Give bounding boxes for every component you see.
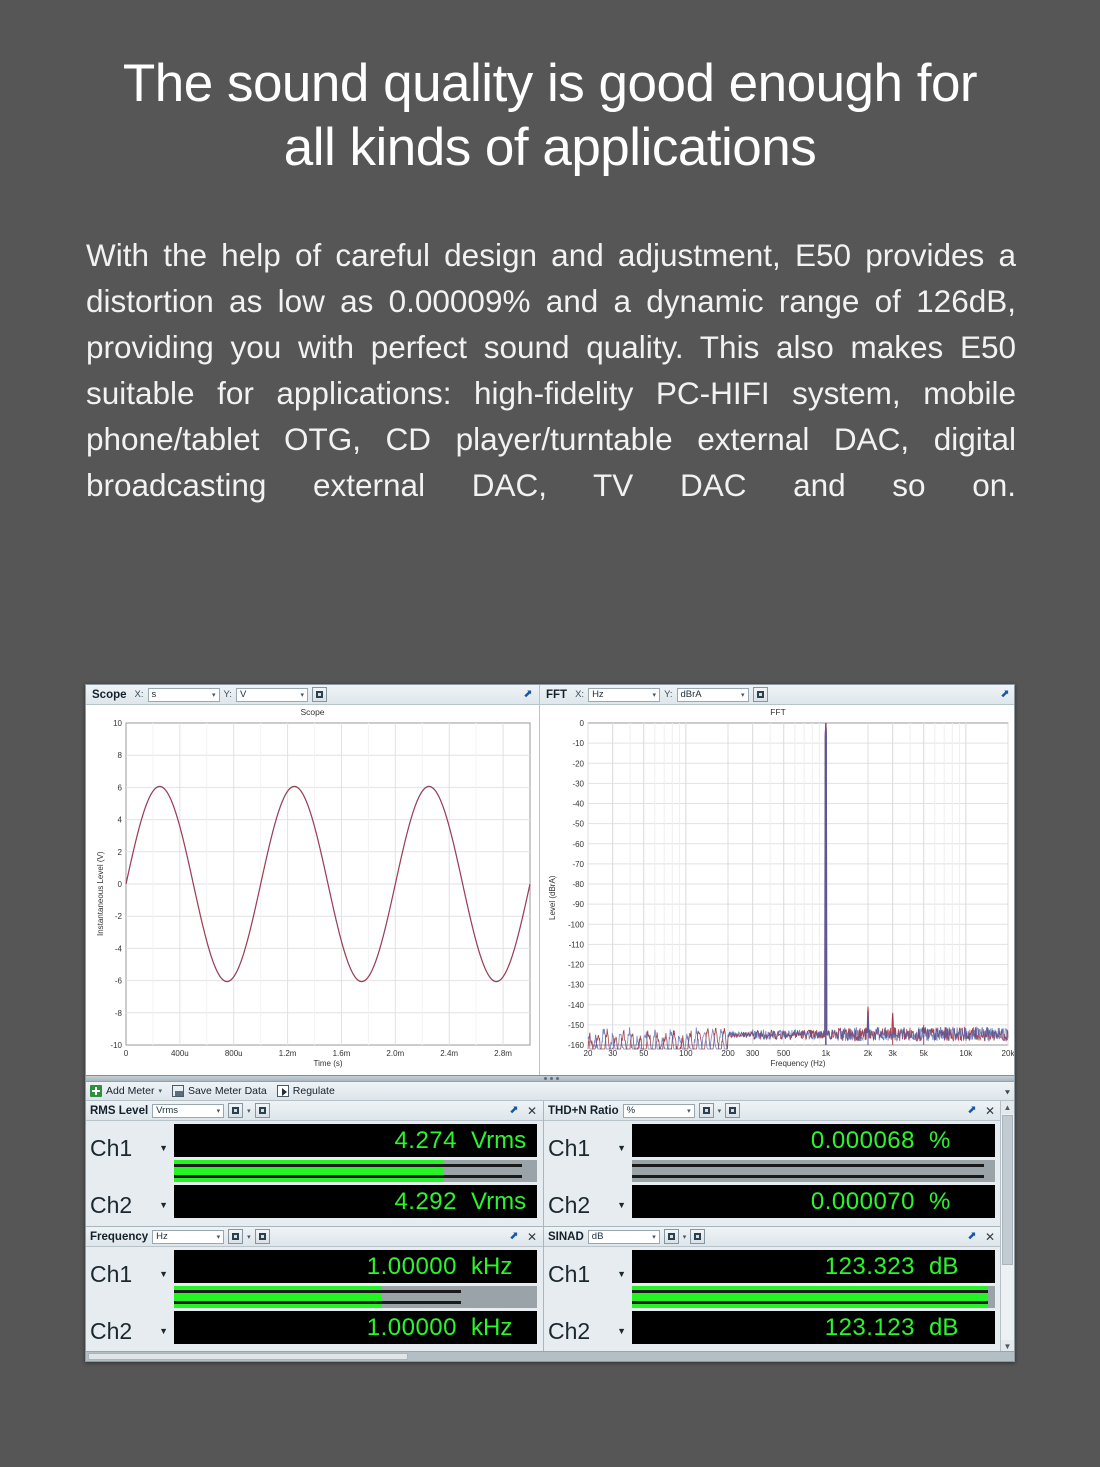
popout-icon[interactable]: ⬈ [965,1104,979,1118]
meter-bar [632,1286,995,1297]
meter-panel-rms-level: RMS LevelVrms▾▾⬈✕Ch1▼4.274VrmsCh2▼4.292V… [86,1101,544,1227]
meter-bar [174,1160,537,1171]
close-icon[interactable]: ✕ [983,1104,997,1118]
meter-unit: kHz [471,1315,529,1341]
svg-text:-40: -40 [572,800,584,809]
popout-icon[interactable]: ⬈ [507,1230,521,1244]
svg-text:-140: -140 [568,1001,585,1010]
meter-bar [632,1171,995,1182]
close-icon[interactable]: ✕ [525,1230,539,1244]
scope-x-unit-select[interactable]: s ▾ [148,688,220,702]
svg-text:10k: 10k [959,1049,973,1058]
meter-unit-value: % [627,1105,635,1117]
svg-text:-10: -10 [572,739,584,748]
svg-text:200: 200 [721,1049,735,1058]
svg-text:30: 30 [608,1049,617,1058]
channel-label: Ch1 [90,1261,132,1287]
scope-y-unit-select[interactable]: V ▾ [236,688,308,702]
fft-x-axis-tag: X: [575,689,584,700]
meter-value: 0.000068 [811,1128,915,1154]
svg-text:-90: -90 [572,900,584,909]
display-mode-icon[interactable] [699,1103,714,1118]
chevron-down-icon: ▾ [687,1107,691,1115]
chevron-down-icon: ▾ [652,1233,656,1241]
meter-grid: RMS LevelVrms▾▾⬈✕Ch1▼4.274VrmsCh2▼4.292V… [86,1101,1002,1353]
meter-bar-needle [174,1290,461,1293]
meter-rows: Ch1▼1.00000kHzCh2▼1.00000kHz [86,1247,543,1344]
svg-text:50: 50 [639,1049,648,1058]
svg-text:5k: 5k [919,1049,928,1058]
channel-select[interactable]: Ch2▼ [548,1192,632,1218]
svg-text:1.2m: 1.2m [279,1049,297,1058]
meter-row: Ch1▼1.00000kHz [90,1250,537,1297]
meter-bar-needle [174,1164,522,1167]
save-icon [172,1085,184,1097]
svg-text:-150: -150 [568,1021,585,1030]
scope-x-axis-label: Time (s) [126,1059,530,1068]
meter-unit: dB [929,1254,987,1280]
readout-stack: 0.000068% [632,1124,995,1171]
chevron-down-icon: ▾ [741,691,745,699]
svg-text:-4: -4 [115,944,123,953]
chevron-down-icon: ▾ [158,1087,162,1095]
meter-title: SINAD [548,1231,584,1243]
fft-x-axis-label: Frequency (Hz) [588,1059,1008,1068]
channel-select[interactable]: Ch1▼ [548,1250,632,1297]
meter-readout: 0.000070% [632,1185,995,1218]
svg-text:0: 0 [580,719,585,728]
display-mode-icon[interactable] [228,1229,243,1244]
svg-text:0: 0 [124,1049,129,1058]
slide-root: The sound quality is good enough for all… [0,0,1100,1467]
readout-stack: 1.00000kHz [174,1297,537,1344]
close-icon[interactable]: ✕ [983,1230,997,1244]
channel-select[interactable]: Ch1▼ [90,1124,174,1171]
regulate-button[interactable]: Regulate [277,1085,335,1097]
gear-icon[interactable] [725,1103,740,1118]
scope-y-unit-value: V [240,689,246,701]
svg-text:20k: 20k [1002,1049,1015,1058]
meter-bar [632,1297,995,1308]
chevron-down-icon[interactable]: ▾ [247,1233,251,1241]
meter-unit: Vrms [471,1189,529,1215]
readout-stack: 123.123dB [632,1297,995,1344]
fft-canvas: 0-10-20-30-40-50-60-70-80-90-100-110-120… [540,705,1015,1075]
headline-line-1: The sound quality is good enough for [123,54,977,113]
svg-text:-2: -2 [115,912,123,921]
close-icon[interactable]: ✕ [525,1104,539,1118]
meter-unit: kHz [471,1254,529,1280]
scope-canvas: 1086420-2-4-6-8-100400u800u1.2m1.6m2.0m2… [86,705,540,1075]
add-meter-label: Add Meter [106,1085,154,1097]
chevron-down-icon: ▼ [617,1326,626,1336]
chevron-down-icon: ▼ [159,1269,168,1279]
svg-text:1.6m: 1.6m [333,1049,351,1058]
meter-bar [632,1160,995,1171]
chevron-down-icon: ▾ [217,1107,221,1115]
fft-x-unit-value: Hz [592,689,604,701]
fft-x-unit-select[interactable]: Hz ▾ [588,688,660,702]
regulate-label: Regulate [293,1085,335,1097]
readout-stack: 1.00000kHz [174,1250,537,1297]
scope-x-unit-value: s [152,689,157,701]
meter-title: Frequency [90,1231,148,1243]
meter-value: 1.00000 [367,1315,457,1341]
meter-bar-needle [174,1175,522,1178]
display-mode-icon[interactable] [228,1103,243,1118]
gear-icon[interactable] [690,1229,705,1244]
save-meter-data-button[interactable]: Save Meter Data [172,1085,267,1097]
meter-rows: Ch1▼0.000068%Ch2▼0.000070% [544,1121,1001,1218]
meter-row: Ch2▼4.292Vrms [90,1171,537,1218]
chevron-down-icon[interactable]: ▾ [718,1107,722,1115]
meter-row: Ch1▼0.000068% [548,1124,995,1171]
svg-text:2: 2 [118,848,123,857]
meter-title: RMS Level [90,1105,148,1117]
fft-y-axis-tag: Y: [664,689,672,700]
panel-splitter[interactable] [86,1075,1015,1082]
save-meter-data-label: Save Meter Data [188,1085,267,1097]
meter-unit-value: dB [592,1231,604,1243]
gear-icon[interactable] [753,687,768,702]
meter-readout: 123.123dB [632,1311,995,1344]
chevron-down-icon[interactable]: ▾ [247,1107,251,1115]
channel-select[interactable]: Ch1▼ [90,1250,174,1297]
chevron-down-icon: ▼ [159,1143,168,1153]
meter-bar-needle [174,1301,461,1304]
channel-label: Ch2 [90,1318,132,1344]
meter-unit-select[interactable]: %▾ [623,1104,695,1118]
svg-text:-50: -50 [572,820,584,829]
meter-unit-value: Vrms [156,1105,178,1117]
svg-text:3k: 3k [888,1049,897,1058]
chevron-down-icon: ▼ [617,1143,626,1153]
meter-rows: Ch1▼123.323dBCh2▼123.123dB [544,1247,1001,1344]
channel-label: Ch2 [90,1192,132,1218]
chevron-down-icon: ▾ [217,1233,221,1241]
chevron-down-icon: ▼ [159,1200,168,1210]
meter-bar [174,1297,537,1308]
scope-panel: Scope X: s ▾ Y: V ▾ ⬈ Scope [86,685,540,1075]
chevron-down-icon[interactable]: ▾ [683,1233,687,1241]
svg-text:-10: -10 [110,1041,122,1050]
meter-unit-select[interactable]: dB▾ [588,1230,660,1244]
meter-value: 123.123 [825,1315,915,1341]
svg-text:-120: -120 [568,961,585,970]
meter-bar-needle [632,1301,988,1304]
body-paragraph: With the help of careful design and adju… [86,232,1016,554]
fft-y-unit-value: dBrA [681,689,702,701]
meter-row: Ch2▼0.000070% [548,1171,995,1218]
meter-title: THD+N Ratio [548,1105,619,1117]
svg-text:1k: 1k [822,1049,831,1058]
channel-select[interactable]: Ch2▼ [548,1318,632,1344]
fft-y-axis-label: Level (dBrA) [548,876,557,920]
fft-panel: FFT X: Hz ▾ Y: dBrA ▾ ⬈ FFT [540,685,1015,1075]
channel-select[interactable]: Ch1▼ [548,1124,632,1171]
svg-text:2.4m: 2.4m [440,1049,458,1058]
svg-text:0: 0 [118,880,123,889]
svg-text:-130: -130 [568,981,585,990]
meter-panel-sinad: SINADdB▾▾⬈✕Ch1▼123.323dBCh2▼123.123dB [544,1227,1002,1353]
scope-title: Scope [90,689,131,701]
meter-panel-header: SINADdB▾▾⬈✕ [544,1227,1001,1247]
meter-row: Ch2▼1.00000kHz [90,1297,537,1344]
scope-y-axis-label: Instantaneous Level (V) [96,852,105,937]
meter-bar [174,1286,537,1297]
plus-icon [90,1085,102,1097]
svg-text:2.0m: 2.0m [386,1049,404,1058]
popout-icon[interactable]: ⬈ [507,1104,521,1118]
vertical-scrollbar[interactable]: ⯆ ▲ ▼ [1000,1101,1014,1353]
scroll-thumb[interactable] [1002,1115,1013,1265]
chevron-down-icon: ▾ [653,691,657,699]
popout-icon[interactable]: ⬈ [998,688,1012,702]
fft-panel-header: FFT X: Hz ▾ Y: dBrA ▾ ⬈ [540,685,1015,705]
horizontal-scrollbar[interactable] [86,1351,1015,1361]
scroll-up-arrow[interactable]: ▲ [1001,1101,1014,1114]
readout-stack: 4.274Vrms [174,1124,537,1171]
meter-value: 0.000070 [811,1189,915,1215]
meter-bar [174,1171,537,1182]
scope-panel-header: Scope X: s ▾ Y: V ▾ ⬈ [86,685,539,705]
gear-icon[interactable] [312,687,327,702]
svg-text:-60: -60 [572,840,584,849]
meter-panel-header: THD+N Ratio%▾▾⬈✕ [544,1101,1001,1121]
svg-text:2.8m: 2.8m [494,1049,512,1058]
svg-text:6: 6 [118,783,123,792]
meter-area: RMS LevelVrms▾▾⬈✕Ch1▼4.274VrmsCh2▼4.292V… [86,1101,1015,1353]
meter-panel-header: FrequencyHz▾▾⬈✕ [86,1227,543,1247]
page-title: The sound quality is good enough for all… [85,52,1015,180]
meter-unit-select[interactable]: Vrms▾ [152,1104,224,1118]
meter-panel-header: RMS LevelVrms▾▾⬈✕ [86,1101,543,1121]
meter-unit: dB [929,1315,987,1341]
meter-readout: 123.323dB [632,1250,995,1283]
svg-text:10: 10 [113,719,122,728]
gear-icon[interactable] [255,1103,270,1118]
meter-row: Ch2▼123.123dB [548,1297,995,1344]
meter-value: 1.00000 [367,1254,457,1280]
fft-plot-title: FFT [540,707,1015,717]
meter-unit: Vrms [471,1128,529,1154]
meter-value: 4.274 [394,1128,457,1154]
expand-icon[interactable]: ⯆ [1001,1088,1014,1101]
audio-analyzer-window: Scope X: s ▾ Y: V ▾ ⬈ Scope [85,684,1015,1362]
channel-label: Ch1 [548,1261,590,1287]
chevron-down-icon: ▾ [212,691,216,699]
readout-stack: 4.292Vrms [174,1171,537,1218]
add-meter-button[interactable]: Add Meter ▾ [90,1085,162,1097]
graph-row: Scope X: s ▾ Y: V ▾ ⬈ Scope [86,685,1015,1075]
meter-readout: 4.292Vrms [174,1185,537,1218]
meter-unit-select[interactable]: Hz▾ [152,1230,224,1244]
meter-bar-needle [632,1164,984,1167]
svg-text:2k: 2k [864,1049,873,1058]
headline-line-2: all kinds of applications [85,116,1015,180]
meter-panel-thd-n-ratio: THD+N Ratio%▾▾⬈✕Ch1▼0.000068%Ch2▼0.00007… [544,1101,1002,1227]
meter-rows: Ch1▼4.274VrmsCh2▼4.292Vrms [86,1121,543,1218]
meter-readout: 1.00000kHz [174,1250,537,1283]
hscroll-thumb[interactable] [88,1353,408,1360]
meter-unit-value: Hz [156,1231,168,1243]
readout-stack: 123.323dB [632,1250,995,1297]
fft-y-unit-select[interactable]: dBrA ▾ [677,688,749,702]
channel-select[interactable]: Ch2▼ [90,1318,174,1344]
svg-text:300: 300 [746,1049,760,1058]
popout-icon[interactable]: ⬈ [521,688,535,702]
meter-bar-needle [632,1175,984,1178]
svg-text:-80: -80 [572,880,584,889]
svg-text:100: 100 [679,1049,693,1058]
svg-text:-110: -110 [569,940,585,949]
chevron-down-icon: ▼ [617,1269,626,1279]
channel-label: Ch2 [548,1192,590,1218]
fft-plot: FFT Level (dBrA) Frequency (Hz) 0-10-20-… [540,705,1015,1075]
channel-label: Ch1 [548,1135,590,1161]
svg-text:-100: -100 [568,920,585,929]
popout-icon[interactable]: ⬈ [965,1230,979,1244]
fft-title: FFT [544,689,571,701]
meter-unit: % [929,1189,987,1215]
svg-text:-20: -20 [572,759,584,768]
scope-x-axis-tag: X: [135,689,144,700]
chevron-down-icon: ▼ [617,1200,626,1210]
meter-bar-needle [632,1290,988,1293]
chevron-down-icon: ▾ [300,691,304,699]
svg-text:8: 8 [118,751,123,760]
display-mode-icon[interactable] [664,1229,679,1244]
svg-text:500: 500 [777,1049,791,1058]
channel-label: Ch1 [90,1135,132,1161]
play-icon [277,1085,289,1097]
scope-plot-title: Scope [86,707,539,717]
channel-select[interactable]: Ch2▼ [90,1192,174,1218]
scope-y-axis-tag: Y: [224,689,232,700]
meter-readout: 1.00000kHz [174,1311,537,1344]
readout-stack: 0.000070% [632,1171,995,1218]
meter-unit: % [929,1128,987,1154]
svg-text:-8: -8 [115,1009,123,1018]
meter-toolbar: Add Meter ▾ Save Meter Data Regulate [86,1082,1015,1101]
svg-text:-6: -6 [115,977,123,986]
chevron-down-icon: ▼ [159,1326,168,1336]
svg-text:800u: 800u [225,1049,243,1058]
meter-row: Ch1▼4.274Vrms [90,1124,537,1171]
svg-text:4: 4 [118,816,123,825]
meter-value: 4.292 [394,1189,457,1215]
svg-text:-30: -30 [572,779,584,788]
scope-plot: Scope Instantaneous Level (V) Time (s) 1… [86,705,539,1075]
meter-panel-frequency: FrequencyHz▾▾⬈✕Ch1▼1.00000kHzCh2▼1.00000… [86,1227,544,1353]
svg-text:20: 20 [584,1049,593,1058]
meter-readout: 4.274Vrms [174,1124,537,1157]
svg-text:-70: -70 [572,860,584,869]
meter-value: 123.323 [825,1254,915,1280]
meter-readout: 0.000068% [632,1124,995,1157]
channel-label: Ch2 [548,1318,590,1344]
svg-text:400u: 400u [171,1049,189,1058]
gear-icon[interactable] [255,1229,270,1244]
meter-row: Ch1▼123.323dB [548,1250,995,1297]
svg-text:-160: -160 [568,1041,585,1050]
